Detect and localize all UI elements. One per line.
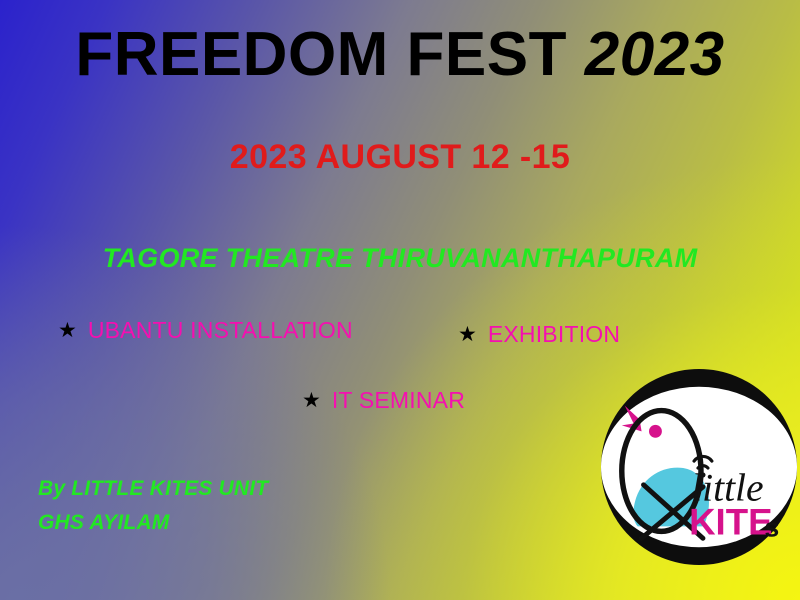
organizer-credit-line-2: GHS AYILAM <box>38 506 268 540</box>
little-kites-logo: little KITE s <box>600 368 798 566</box>
event-item-ubantu-installation: ★ UBANTU INSTALLATION <box>58 317 353 344</box>
star-icon: ★ <box>302 390 321 411</box>
logo-word-kite: KITE <box>689 501 772 542</box>
title-main: FREEDOM FEST <box>75 20 584 89</box>
event-item-label: IT SEMINAR <box>332 387 465 414</box>
star-icon: ★ <box>458 324 477 345</box>
event-item-label: UBANTU INSTALLATION <box>88 317 353 344</box>
title-year: 2023 <box>585 20 725 89</box>
event-item-label: EXHIBITION <box>488 321 620 348</box>
event-item-it-seminar: ★ IT SEMINAR <box>302 387 465 414</box>
event-dateline: 2023 AUGUST 12 -15 <box>0 138 800 177</box>
page-title: FREEDOM FEST 2023 <box>0 22 800 87</box>
freedom-fest-poster: FREEDOM FEST 2023 2023 AUGUST 12 -15 TAG… <box>0 0 800 600</box>
organizer-credit: By LITTLE KITES UNIT GHS AYILAM <box>38 472 268 540</box>
event-item-exhibition: ★ EXHIBITION <box>458 321 620 348</box>
event-venue: TAGORE THEATRE THIRUVANANTHAPURAM <box>0 243 800 274</box>
organizer-credit-line-1: By LITTLE KITES UNIT <box>38 472 268 506</box>
star-icon: ★ <box>58 320 77 341</box>
logo-eye <box>649 425 662 438</box>
logo-word-s: s <box>764 512 779 542</box>
